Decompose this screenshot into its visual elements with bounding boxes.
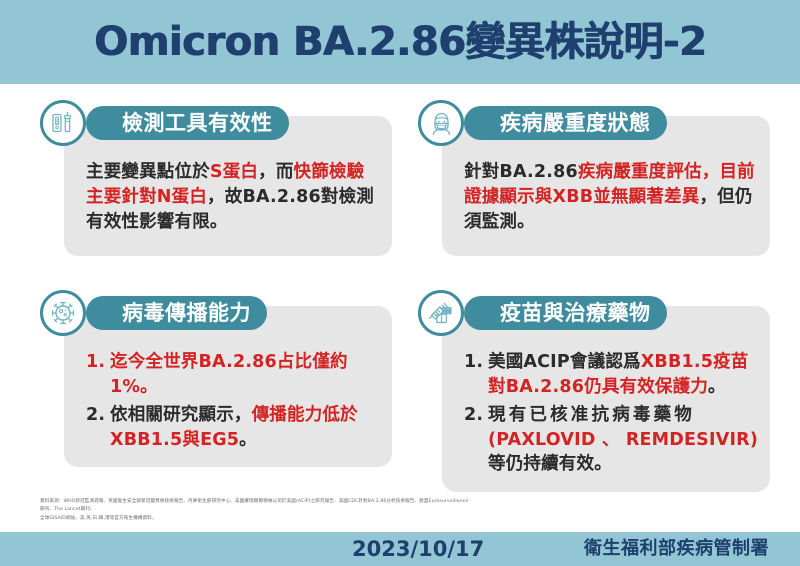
syringe-medicine-icon	[418, 290, 464, 336]
footnote-line-2: 全球GISAID網站、美,英,日,韓,港等官方衛生機構資料。	[40, 515, 470, 523]
source-footnote: 資料來源：WHO新冠監測週報、英國衛生安全部新冠變異株技術報告、丹麥衛生部研究中…	[40, 498, 470, 523]
title-banner: Omicron BA.2.86變異株說明-2	[0, 0, 800, 84]
card-heading-label: 疾病嚴重度狀態	[500, 113, 651, 134]
text-run-highlight: (PAXLOVID 、 REMDESIVIR)	[488, 430, 758, 450]
rapid-test-kit-icon	[40, 100, 86, 146]
text-run: 現有已核准抗病毒藥物	[488, 405, 695, 425]
card-heading-pill: 疾病嚴重度狀態	[464, 106, 667, 140]
card-panel: 迄今全世界BA.2.86占比僅約1%。 依相關研究顯示，傳播能力低於XBB1.5…	[64, 306, 392, 467]
card-body: 針對BA.2.86疾病嚴重度評估，目前證據顯示與XBB並無顯著差異，但仍須監測。	[464, 160, 760, 235]
list-item: 現有已核准抗病毒藥物(PAXLOVID 、 REMDESIVIR)等仍持續有效。	[464, 403, 760, 478]
list-item: 迄今全世界BA.2.86占比僅約1%。	[86, 350, 382, 400]
card-heading-label: 檢測工具有效性	[122, 113, 273, 134]
card-body: 迄今全世界BA.2.86占比僅約1%。 依相關研究顯示，傳播能力低於XBB1.5…	[86, 350, 382, 452]
card-heading-label: 病毒傳播能力	[122, 303, 251, 324]
cards-grid: 主要變異點位於S蛋白，而快篩檢驗主要針對N蛋白，故BA.2.86對檢測有效性影響…	[0, 92, 800, 492]
list-item: 依相關研究顯示，傳播能力低於XBB1.5與EG5。	[86, 403, 382, 453]
text-run-highlight: S蛋白	[210, 162, 258, 182]
text-run: 主要變異點位於	[86, 162, 210, 182]
card-list: 迄今全世界BA.2.86占比僅約1%。 依相關研究顯示，傳播能力低於XBB1.5…	[86, 350, 382, 452]
text-run-highlight: 迄今全世界BA.2.86占比僅約1%。	[110, 352, 348, 397]
text-run: 依相關研究顯示，	[110, 405, 252, 425]
card-panel: 美國ACIP會議認爲XBB1.5疫苗對BA.2.86仍具有效保護力。 現有已核准…	[442, 306, 770, 492]
coronavirus-icon	[40, 290, 86, 336]
card-body: 美國ACIP會議認爲XBB1.5疫苗對BA.2.86仍具有效保護力。 現有已核准…	[464, 350, 760, 477]
text-run: 針對BA.2.86	[464, 162, 578, 182]
footer-bar: 2023/10/17 衛生福利部疾病管制署	[0, 532, 800, 566]
masked-person-icon	[418, 100, 464, 146]
card-heading-pill: 病毒傳播能力	[86, 296, 267, 330]
card-heading-pill: 疫苗與治療藥物	[464, 296, 667, 330]
list-item: 美國ACIP會議認爲XBB1.5疫苗對BA.2.86仍具有效保護力。	[464, 350, 760, 400]
text-run: 。	[708, 377, 726, 397]
card-heading-label: 疫苗與治療藥物	[500, 303, 651, 324]
card-heading-pill: 檢測工具有效性	[86, 106, 289, 140]
agency-name: 衛生福利部疾病管制署	[584, 540, 769, 558]
text-run: 美國ACIP會議認爲	[488, 352, 641, 372]
publication-date: 2023/10/17	[352, 539, 484, 560]
card-list: 美國ACIP會議認爲XBB1.5疫苗對BA.2.86仍具有效保護力。 現有已核准…	[464, 350, 760, 477]
footnote-line-1: 資料來源：WHO新冠監測週報、英國衛生安全部新冠變異株技術報告、丹麥衛生部研究中…	[40, 498, 470, 515]
text-run: 。	[239, 430, 257, 450]
card-body: 主要變異點位於S蛋白，而快篩檢驗主要針對N蛋白，故BA.2.86對檢測有效性影響…	[86, 160, 382, 235]
page-title: Omicron BA.2.86變異株說明-2	[94, 22, 706, 62]
text-run: ，而	[258, 162, 293, 182]
text-run: 等仍持續有效。	[488, 454, 612, 474]
